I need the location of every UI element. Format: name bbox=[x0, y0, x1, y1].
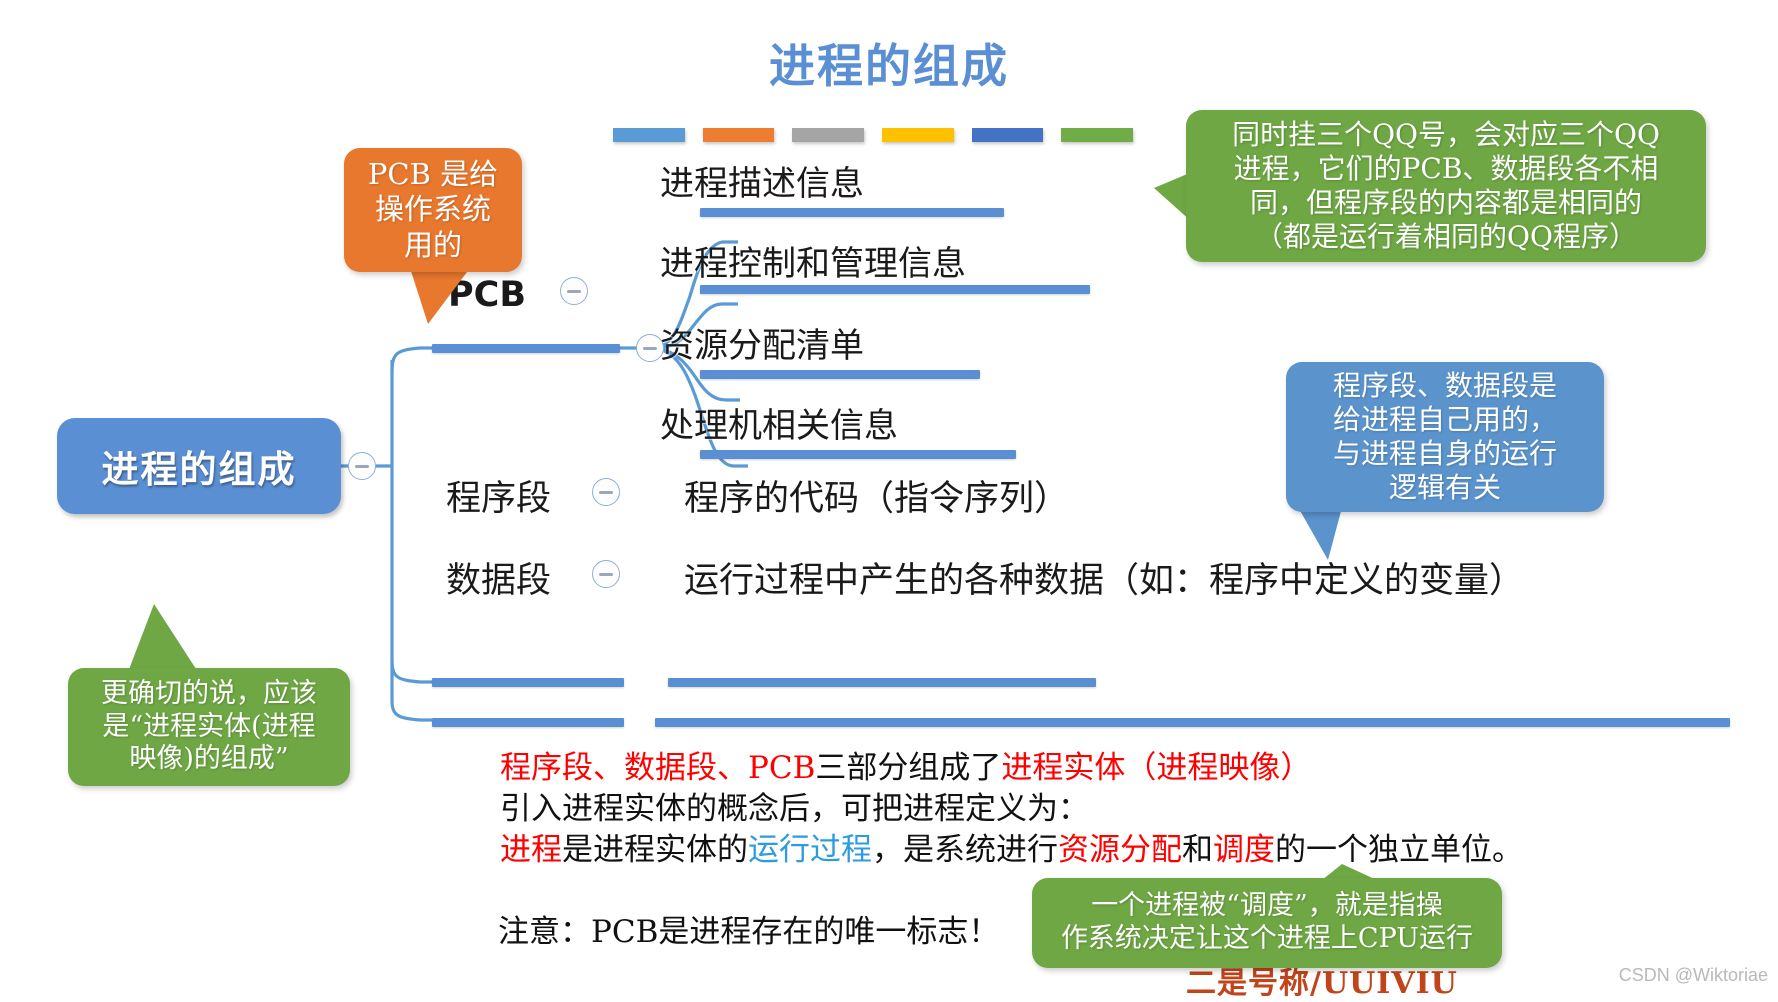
summary-line1-part1: 程序段、数据段、PCB bbox=[500, 750, 815, 786]
callout-tail-pcb bbox=[410, 268, 470, 324]
summary-line3-part6: 和 bbox=[1182, 832, 1213, 868]
callout-segment-text: 程序段、数据段是 给进程自己用的， 与进程自身的运行 逻辑有关 bbox=[1286, 369, 1604, 506]
summary-line3-part2: 是进程实体的 bbox=[562, 832, 748, 868]
underline-child-1 bbox=[700, 208, 1004, 217]
slide-canvas: 进程的组成 bbox=[0, 0, 1778, 992]
mindmap-node-chengxuduan-child[interactable]: 程序的代码（指令序列） bbox=[684, 470, 1069, 521]
collapse-toggle-shujuduan[interactable] bbox=[592, 560, 620, 588]
callout-pcb[interactable]: PCB 是给 操作系统 用的 bbox=[344, 148, 522, 272]
collapse-toggle-pcb-fan[interactable] bbox=[636, 334, 664, 362]
watermark: CSDN @Wiktoriae bbox=[1619, 965, 1768, 986]
summary-line3-part4: ，是系统进行 bbox=[872, 832, 1058, 868]
color-bar-1 bbox=[613, 128, 685, 142]
summary-paragraph: 程序段、数据段、PCB三部分组成了进程实体（进程映像） 引入进程实体的概念后，可… bbox=[500, 748, 1700, 871]
underline-child-4 bbox=[700, 450, 1016, 459]
collapse-toggle-pcb[interactable] bbox=[560, 277, 588, 305]
decorative-color-bars bbox=[613, 128, 1133, 142]
mindmap-node-pcb-child-1[interactable]: 进程描述信息 bbox=[660, 156, 864, 205]
callout-qq[interactable]: 同时挂三个QQ号，会对应三个QQ 进程，它们的PCB、数据段各不相 同，但程序段… bbox=[1186, 110, 1706, 262]
color-bar-3 bbox=[792, 128, 864, 142]
summary-line3-part1: 进程 bbox=[500, 832, 562, 868]
summary-line-1: 程序段、数据段、PCB三部分组成了进程实体（进程映像） bbox=[500, 748, 1700, 789]
collapse-toggle-chengxuduan[interactable] bbox=[592, 478, 620, 506]
callout-entity[interactable]: 更确切的说，应该 是“进程实体(进程 映像)的组成” bbox=[68, 668, 350, 786]
callout-qq-text: 同时挂三个QQ号，会对应三个QQ 进程，它们的PCB、数据段各不相 同，但程序段… bbox=[1186, 118, 1706, 255]
summary-line1-part3: 进程实体（进程映像） bbox=[1001, 750, 1311, 786]
summary-line1-part2: 三部分组成了 bbox=[815, 750, 1001, 786]
color-bar-4 bbox=[882, 128, 954, 142]
mindmap-root-node[interactable]: 进程的组成 bbox=[57, 418, 341, 514]
color-bar-5 bbox=[972, 128, 1044, 142]
summary-line3-part7: 调度 bbox=[1213, 832, 1275, 868]
underline-child-3 bbox=[700, 370, 980, 379]
underline-child-2 bbox=[700, 285, 1090, 294]
underline-chengxuduan-child bbox=[668, 678, 1096, 687]
summary-line3-part5: 资源分配 bbox=[1058, 832, 1182, 868]
color-bar-6 bbox=[1061, 128, 1133, 142]
summary-line3-part8: 的一个独立单位。 bbox=[1275, 832, 1523, 868]
mindmap-node-shujuduan-child[interactable]: 运行过程中产生的各种数据（如：程序中定义的变量） bbox=[684, 552, 1524, 603]
page-title: 进程的组成 bbox=[0, 30, 1778, 96]
summary-line-2: 引入进程实体的概念后，可把进程定义为： bbox=[500, 789, 1700, 830]
callout-pcb-text: PCB 是给 操作系统 用的 bbox=[344, 157, 522, 263]
callout-tail-entity bbox=[128, 604, 198, 672]
underline-chengxuduan bbox=[432, 678, 624, 687]
color-bar-2 bbox=[703, 128, 775, 142]
summary-note: 注意：PCB是进程存在的唯一标志！ bbox=[498, 906, 999, 951]
collapse-toggle-root[interactable] bbox=[348, 452, 376, 480]
underline-shujuduan bbox=[432, 718, 624, 727]
mindmap-node-chengxuduan[interactable]: 程序段 bbox=[446, 470, 551, 521]
mindmap-node-pcb-child-2[interactable]: 进程控制和管理信息 bbox=[660, 236, 966, 285]
underline-pcb bbox=[432, 344, 620, 353]
summary-line3-part3: 运行过程 bbox=[748, 832, 872, 868]
underline-shujuduan-child bbox=[655, 718, 1730, 727]
mindmap-root-label: 进程的组成 bbox=[102, 439, 297, 493]
mindmap-node-pcb-child-3[interactable]: 资源分配清单 bbox=[660, 318, 864, 367]
mindmap-node-shujuduan[interactable]: 数据段 bbox=[446, 552, 551, 603]
mindmap-node-pcb-child-4[interactable]: 处理机相关信息 bbox=[660, 398, 898, 447]
callout-entity-text: 更确切的说，应该 是“进程实体(进程 映像)的组成” bbox=[68, 678, 350, 777]
callout-schedule[interactable]: 一个进程被“调度”，就是指操 作系统决定让这个进程上CPU运行 bbox=[1032, 878, 1502, 968]
summary-line-3: 进程是进程实体的运行过程，是系统进行资源分配和调度的一个独立单位。 bbox=[500, 830, 1700, 871]
callout-segment[interactable]: 程序段、数据段是 给进程自己用的， 与进程自身的运行 逻辑有关 bbox=[1286, 362, 1604, 512]
callout-schedule-text: 一个进程被“调度”，就是指操 作系统决定让这个进程上CPU运行 bbox=[1032, 890, 1502, 956]
